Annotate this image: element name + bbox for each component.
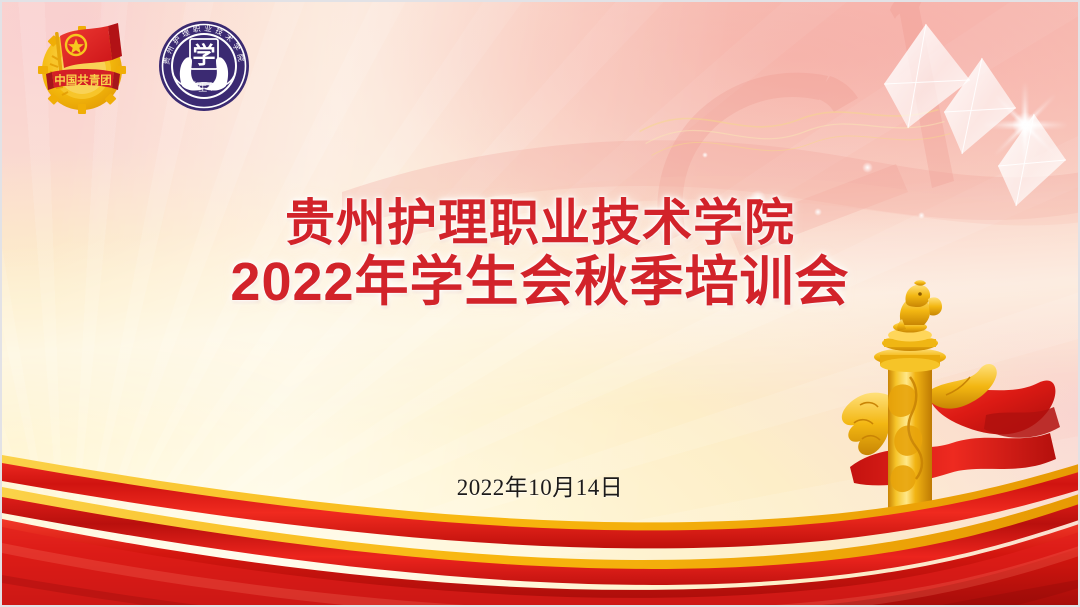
dove-diamonds-decor: [874, 20, 1080, 210]
sparkle-dot: [702, 152, 708, 158]
logo-row: 中国共青团 贵州护理职业技术学院: [30, 14, 256, 118]
bottom-red-wave: [2, 415, 1080, 605]
title-line-institution: 贵州护理职业技术学院: [2, 198, 1078, 249]
title-line-event: 2022年学生会秋季培训会: [2, 255, 1078, 310]
poster-date: 2022年10月14日: [2, 468, 1078, 502]
cyl-banner-text: 中国共青团: [54, 73, 112, 87]
student-union-emblem: 贵州护理职业技术学院 学 学生会: [152, 14, 256, 118]
sparkle-dot: [862, 162, 873, 173]
communist-youth-league-emblem: 中国共青团: [30, 14, 134, 118]
poster-title: 贵州护理职业技术学院 2022年学生会秋季培训会: [2, 198, 1078, 310]
student-union-center-char: 学: [193, 42, 216, 68]
poster-slide: 中国共青团 贵州护理职业技术学院: [0, 0, 1080, 607]
dove-3: [998, 114, 1066, 206]
